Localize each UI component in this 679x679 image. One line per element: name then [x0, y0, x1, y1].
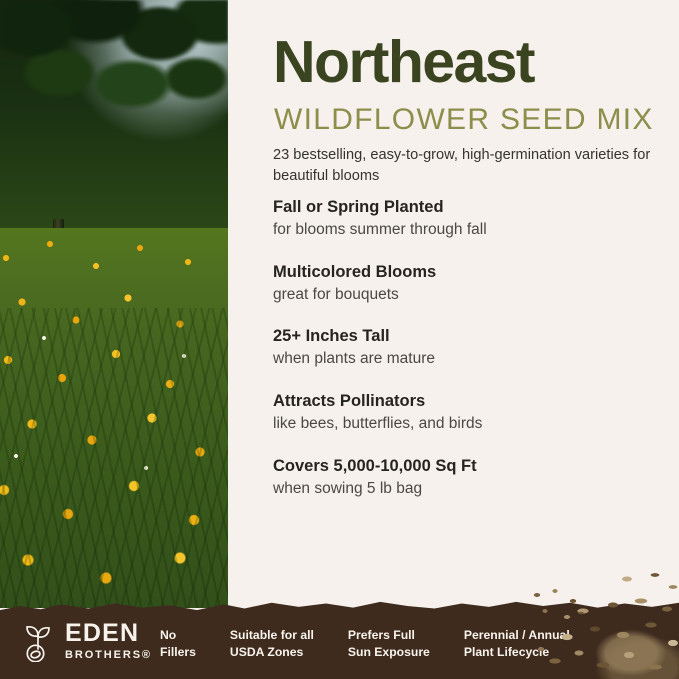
feature-subtext: when sowing 5 lb bag	[273, 479, 673, 500]
product-subtitle: WILDFLOWER SEED MIX	[274, 105, 654, 135]
feature-heading: 25+ Inches Tall	[273, 327, 673, 347]
brand-logo: EDEN BROTHERS®	[20, 621, 152, 662]
feature-subtext: when plants are mature	[273, 349, 673, 370]
feature-item: Fall or Spring Planted for blooms summer…	[273, 198, 673, 241]
feature-subtext: great for bouquets	[273, 285, 673, 306]
feature-list: Fall or Spring Planted for blooms summer…	[273, 198, 673, 522]
feature-item: Attracts Pollinators like bees, butterfl…	[273, 392, 673, 435]
footer-badges: No Fillers Suitable for all USDA Zones P…	[160, 627, 570, 661]
scattered-seeds	[529, 587, 587, 627]
brand-subname: BROTHERS®	[65, 649, 152, 661]
brand-wordmark: EDEN BROTHERS®	[65, 621, 152, 662]
footer-bar: EDEN BROTHERS® No Fillers Suitable for a…	[0, 597, 679, 679]
badge-usda-zones: Suitable for all USDA Zones	[230, 627, 314, 661]
feature-item: Covers 5,000-10,000 Sq Ft when sowing 5 …	[273, 457, 673, 500]
feature-heading: Fall or Spring Planted	[273, 198, 673, 218]
info-panel: Northeast WILDFLOWER SEED MIX 23 bestsel…	[228, 0, 679, 608]
wildflower-field	[0, 438, 228, 608]
feature-subtext: like bees, butterflies, and birds	[273, 414, 673, 435]
feature-heading: Attracts Pollinators	[273, 392, 673, 412]
badge-no-fillers: No Fillers	[160, 627, 196, 661]
badge-sun-exposure: Prefers Full Sun Exposure	[348, 627, 430, 661]
brand-name: EDEN	[65, 619, 139, 647]
feature-heading: Covers 5,000-10,000 Sq Ft	[273, 457, 673, 477]
feature-subtext: for blooms summer through fall	[273, 220, 673, 241]
product-description: 23 bestselling, easy-to-grow, high-germi…	[273, 145, 665, 187]
product-marketing-card: Northeast WILDFLOWER SEED MIX 23 bestsel…	[0, 0, 679, 679]
sprout-seedling-icon	[20, 622, 56, 662]
product-photo	[0, 0, 228, 608]
feature-item: 25+ Inches Tall when plants are mature	[273, 327, 673, 370]
product-title: Northeast	[273, 33, 534, 92]
feature-heading: Multicolored Blooms	[273, 263, 673, 283]
feature-item: Multicolored Blooms great for bouquets	[273, 263, 673, 306]
grass-texture	[0, 308, 228, 608]
